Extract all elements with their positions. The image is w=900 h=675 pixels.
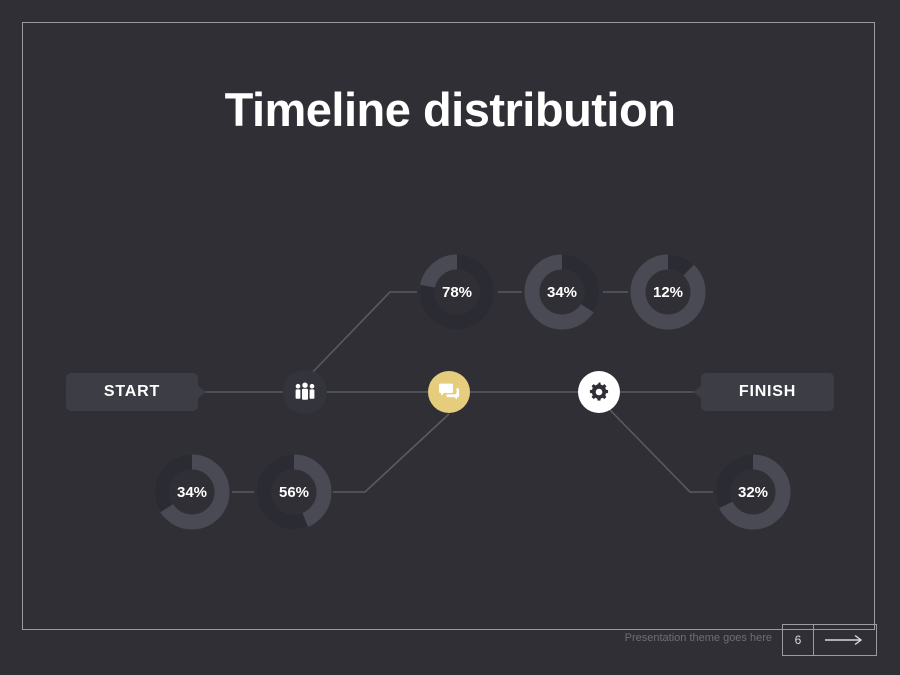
finish-pointer — [693, 385, 702, 399]
next-slide-button[interactable] — [813, 624, 877, 656]
donut-label: 78% — [417, 252, 497, 332]
finish-button[interactable]: FINISH — [701, 373, 834, 411]
donut-chart-bottom-3: 32% — [713, 452, 793, 532]
donut-label: 34% — [152, 452, 232, 532]
donut-chart-bottom-1: 34% — [152, 452, 232, 532]
start-label: START — [104, 383, 160, 401]
timeline-node-chat[interactable] — [428, 371, 470, 413]
page-number: 6 — [782, 624, 814, 656]
finish-label: FINISH — [739, 383, 796, 401]
donut-label: 12% — [628, 252, 708, 332]
arrow-right-icon — [823, 634, 867, 646]
slide: Timeline distribution — [0, 0, 900, 675]
timeline-diagram: START FINISH — [0, 0, 900, 675]
start-button[interactable]: START — [66, 373, 198, 411]
donut-chart-top-1: 78% — [417, 252, 497, 332]
donut-chart-bottom-2: 56% — [254, 452, 334, 532]
footer-theme-text: Presentation theme goes here — [625, 632, 772, 644]
connector-users-to-donut-78 — [307, 292, 417, 378]
donut-label: 56% — [254, 452, 334, 532]
connector-lines — [0, 0, 900, 675]
users-icon — [293, 382, 317, 402]
donut-label: 32% — [713, 452, 793, 532]
timeline-node-settings[interactable] — [578, 371, 620, 413]
donut-label: 34% — [522, 252, 602, 332]
chat-bubbles-icon — [438, 383, 460, 401]
timeline-node-users[interactable] — [283, 370, 327, 414]
donut-chart-top-3: 12% — [628, 252, 708, 332]
gear-icon — [588, 381, 610, 403]
connector-chat-to-donut-56 — [333, 414, 449, 492]
start-pointer — [197, 385, 206, 399]
connector-gear-to-donut-32 — [610, 410, 713, 492]
donut-chart-top-2: 34% — [522, 252, 602, 332]
